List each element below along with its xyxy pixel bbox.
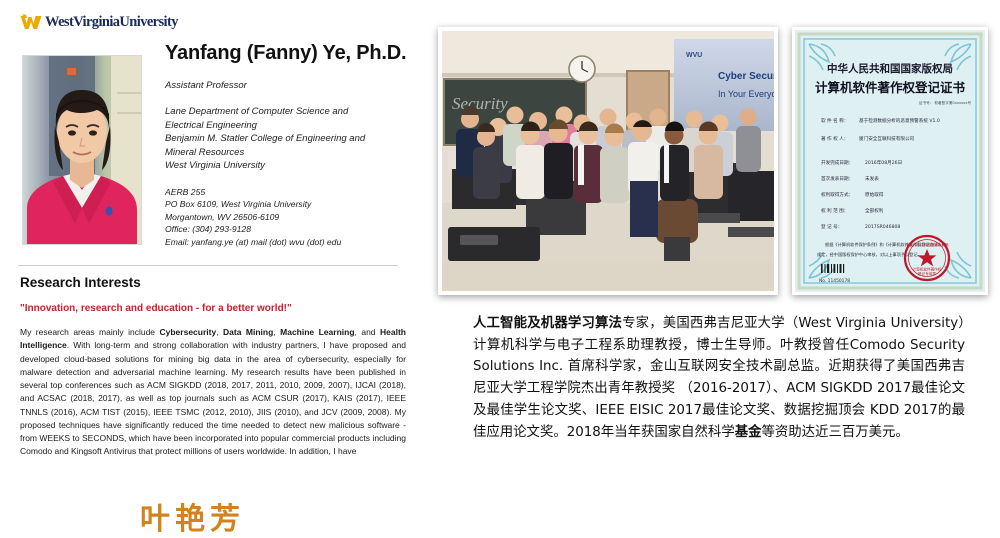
svg-text:开发完成日期：: 开发完成日期：	[821, 159, 853, 166]
svg-text:权利取得方式：: 权利取得方式：	[821, 191, 853, 198]
svg-text:证书号： 软著登字第0xxxxxx号: 证书号： 软著登字第0xxxxxx号	[919, 100, 972, 105]
svg-text:厦门安全互联科技有限公司: 厦门安全互联科技有限公司	[859, 135, 915, 142]
contact-line: Morgantown, WV 26506-6109	[165, 211, 415, 223]
affiliation-line: Mineral Resources	[165, 146, 415, 159]
flying-wv-icon	[20, 14, 42, 31]
contact-block: AERB 255PO Box 6109, West Virginia Unive…	[165, 186, 415, 248]
affiliation-block: Lane Department of Computer Science andE…	[165, 105, 415, 172]
svg-text:著 作 权 人：: 著 作 权 人：	[821, 135, 848, 142]
research-interests-heading: Research Interests	[20, 275, 141, 290]
svg-text:计算机软件著作权登记证书: 计算机软件著作权登记证书	[815, 80, 966, 95]
contact-line: Email: yanfang.ye (at) mail (dot) wvu (d…	[165, 236, 415, 248]
right-media-column: Security cyber WVU Cyber Secur In Your E…	[425, 0, 1000, 533]
research-quote: "Innovation, research and education - fo…	[20, 303, 292, 314]
svg-text:全部权利: 全部权利	[865, 207, 884, 214]
wvu-wordmark: WestVirginiaUniversity	[45, 14, 178, 31]
svg-text:未发表: 未发表	[865, 175, 879, 182]
wvu-logo: WestVirginiaUniversity	[20, 14, 178, 31]
svg-text:原始取得: 原始取得	[865, 191, 884, 198]
svg-text:登记专用章: 登记专用章	[918, 271, 936, 276]
left-profile-column: WestVirginiaUniversity	[0, 0, 425, 533]
affiliation-line: Lane Department of Computer Science and	[165, 105, 415, 118]
group-photo: Security cyber WVU Cyber Secur In Your E…	[438, 27, 778, 295]
certificate-photo: 中华人民共和国国家版权局 计算机软件著作权登记证书 证书号： 软著登字第0xxx…	[792, 27, 988, 295]
job-title: Assistant Professor	[165, 80, 415, 93]
portrait-photo	[22, 55, 142, 245]
chinese-bio-paragraph: 人工智能及机器学习算法专家，美国西弗吉尼亚大学（West Virginia Un…	[473, 313, 965, 443]
svg-text:软 件 名 称：: 软 件 名 称：	[821, 117, 848, 124]
svg-text:登 记 号：: 登 记 号：	[821, 223, 842, 230]
contact-line: Office: (304) 293-9128	[165, 223, 415, 235]
svg-text:首次发表日期：: 首次发表日期：	[821, 175, 853, 182]
svg-text:2017SR046808: 2017SR046808	[865, 224, 900, 230]
contact-line: AERB 255	[165, 186, 415, 198]
svg-text:计算机软件著作权: 计算机软件著作权	[913, 267, 942, 272]
svg-text:In Your Everyda: In Your Everyda	[718, 89, 774, 99]
svg-text:Cyber Secur: Cyber Secur	[718, 71, 774, 82]
svg-text:基于检测数据分析的恶意预警系统 V1.0: 基于检测数据分析的恶意预警系统 V1.0	[859, 117, 940, 124]
svg-text:No. 11450178: No. 11450178	[819, 278, 850, 284]
svg-text:2016年08月26日: 2016年08月26日	[865, 159, 902, 166]
svg-text:权 利 范 围：: 权 利 范 围：	[821, 207, 848, 214]
affiliation-line: Benjamin M. Statler College of Engineeri…	[165, 132, 415, 145]
svg-text:Security: Security	[452, 94, 508, 113]
svg-text:中华人民共和国国家版权局: 中华人民共和国国家版权局	[827, 62, 953, 75]
svg-text:中华人民共和国国家版权局: 中华人民共和国国家版权局	[905, 242, 949, 247]
section-divider	[18, 265, 398, 266]
page-title: Yanfang (Fanny) Ye, Ph.D.	[165, 42, 415, 66]
affiliation-line: Electrical Engineering	[165, 119, 415, 132]
research-body-text: My research areas mainly include Cyberse…	[20, 326, 406, 459]
svg-text:WVU: WVU	[686, 52, 702, 59]
contact-line: PO Box 6109, West Virginia University	[165, 198, 415, 210]
name-block: Yanfang (Fanny) Ye, Ph.D. Assistant Prof…	[165, 42, 415, 248]
affiliation-line: West Virginia University	[165, 159, 415, 172]
chinese-name-label: 叶艳芳	[140, 494, 245, 538]
